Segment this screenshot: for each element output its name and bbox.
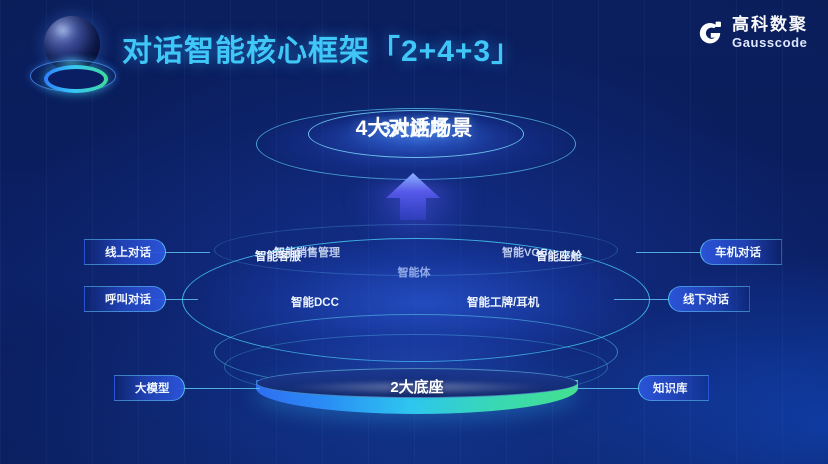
bottom-layer-title: 2大底座: [256, 376, 578, 397]
brand-name-en: Gausscode: [732, 36, 808, 49]
connector-line-llm: [178, 388, 260, 389]
pill-call-dialogue[interactable]: 呼叫对话: [84, 286, 166, 312]
sphere-logo-icon: [28, 14, 114, 106]
pill-online-dialogue[interactable]: 线上对话: [84, 239, 166, 265]
connector-line-invehicle: [636, 252, 702, 253]
pill-large-model[interactable]: 大模型: [114, 375, 185, 401]
gausscode-mark-icon: [696, 19, 724, 47]
page-title: 对话智能核心框架「2+4+3」: [122, 26, 522, 70]
pill-invehicle-dialogue[interactable]: 车机对话: [700, 239, 782, 265]
pill-offline-dialogue[interactable]: 线下对话: [668, 286, 750, 312]
middle-item-cockpit: 智能座舱: [536, 248, 582, 264]
pill-knowledge-base[interactable]: 知识库: [638, 375, 709, 401]
middle-layer-title: 4大对话场景: [0, 112, 828, 142]
up-arrow-icon: [382, 172, 444, 220]
brand-name-cn: 高科数聚: [732, 16, 808, 33]
middle-item-dcc: 智能DCC: [291, 294, 339, 310]
middle-item-service: 智能客服: [255, 248, 301, 264]
middle-item-badge: 智能工牌/耳机: [467, 294, 539, 310]
slide-canvas: 对话智能核心框架「2+4+3」 高科数聚 Gausscode 3大应用 智能销售…: [0, 0, 828, 464]
framework-diagram: 3大应用 智能销售管理 智能VOC 智能体 4大对话场景 智能客服 智能座: [0, 96, 828, 464]
brand-logo: 高科数聚 Gausscode: [696, 16, 808, 49]
connector-line-kb: [572, 388, 640, 389]
logo-inner-ring-icon: [44, 65, 108, 93]
bottom-layer-cylinder: 2大底座: [256, 368, 578, 426]
connector-line-offline: [614, 299, 670, 300]
